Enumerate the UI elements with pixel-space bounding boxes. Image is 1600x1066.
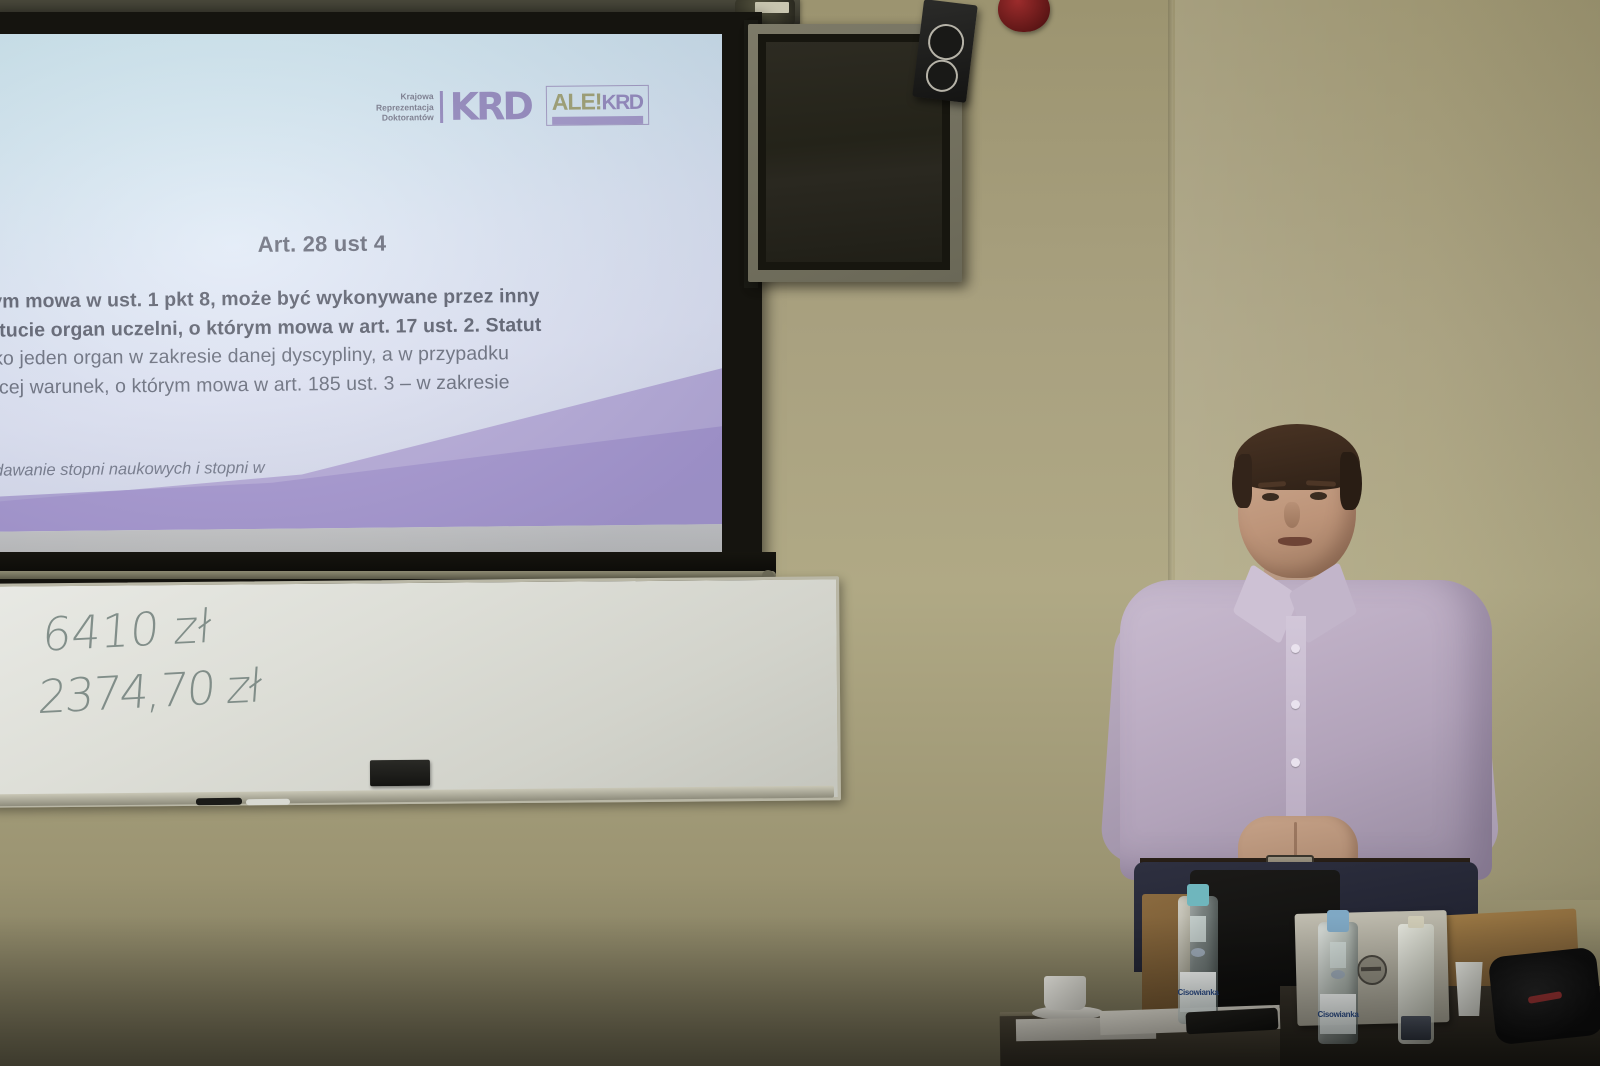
krd-acronym: KRD [449, 84, 531, 129]
eye-left [1262, 493, 1279, 501]
slide-body-line-2: reślony w statucie organ uczelni, o któr… [0, 313, 542, 342]
bottle-cap-left-icon [1187, 884, 1209, 906]
krd-logo-group: Krajowa Reprezentacja Doktorantów KRD AL… [376, 83, 649, 130]
alekrd-underbar [552, 116, 643, 125]
shirt-button-1 [1291, 644, 1300, 653]
whiteboard-marker-black[interactable] [196, 798, 242, 805]
slide-footnote: 8 ust 1 pkt 8) nadawanie stopni naukowyc… [0, 453, 496, 509]
alekrd-prefix: ALE! [552, 88, 602, 116]
presentation-slide: Krajowa Reprezentacja Doktorantów KRD AL… [0, 34, 722, 562]
whiteboard-eraser[interactable] [370, 760, 430, 786]
slide-body-line-1: danie, o którym mowa w ust. 1 pkt 8, moż… [0, 285, 540, 314]
presenter [1098, 418, 1498, 938]
whiteboard-marker-white[interactable] [246, 799, 290, 805]
mouth [1278, 537, 1312, 546]
whiteboard-handwriting: 6410 zł 2374,70 zł [36, 588, 344, 728]
krd-org-line1: Krajowa [376, 91, 434, 102]
alekrd-logo: ALE! KRD [546, 85, 649, 126]
krd-org-line2: Reprezentacja [376, 102, 434, 113]
slide-article-heading: Art. 28 ust 4 [0, 228, 675, 261]
conference-room-scene: Krajowa Reprezentacja Doktorantów KRD AL… [0, 0, 1600, 1066]
alekrd-acronym: KRD [601, 91, 642, 115]
foreground-shadow [0, 916, 1600, 1066]
eye-right [1310, 492, 1327, 500]
projection-screen: Krajowa Reprezentacja Doktorantów KRD AL… [0, 12, 762, 584]
speaker-driver-upper-icon [926, 22, 966, 62]
shirt-button-3 [1291, 758, 1300, 767]
krd-org-line3: Doktorantów [376, 112, 434, 123]
shirt-button-2 [1291, 700, 1300, 709]
speaker-driver-lower-icon [924, 58, 960, 94]
hair-left [1232, 454, 1252, 508]
slide-body: danie, o którym mowa w ust. 1 pkt 8, moż… [0, 280, 685, 431]
nose [1284, 502, 1300, 528]
